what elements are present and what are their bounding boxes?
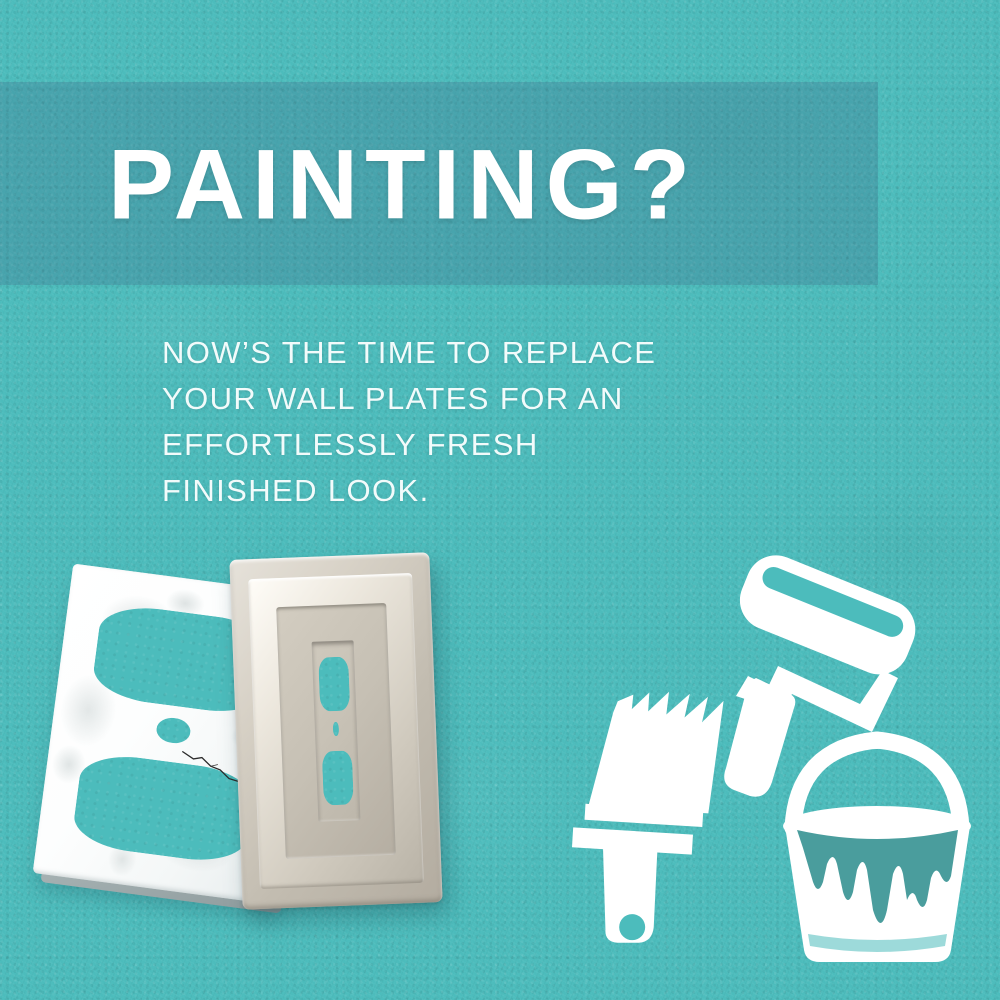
subhead-line-3: EFFORTLESSLY FRESH	[162, 422, 762, 468]
title-banner: PAINTING?	[0, 82, 878, 285]
promo-canvas: PAINTING? NOW’S THE TIME TO REPLACE YOUR…	[0, 0, 1000, 1000]
paint-bucket-icon	[775, 724, 980, 964]
outlet-screw-hole	[333, 722, 339, 737]
outlet-cutout-bottom	[322, 750, 354, 805]
nickel-plate-bevel-ring-2	[276, 603, 396, 859]
page-title: PAINTING?	[108, 134, 697, 233]
paint-tools-icon-group	[560, 556, 990, 966]
new-nickel-wall-plate	[229, 552, 442, 909]
outlet-cutout-top	[318, 657, 350, 712]
wall-plates-group	[0, 540, 560, 960]
subhead-text-block: NOW’S THE TIME TO REPLACE YOUR WALL PLAT…	[162, 330, 762, 514]
subhead-line-2: YOUR WALL PLATES FOR AN	[162, 376, 762, 422]
nickel-plate-bevel-ring-1	[248, 573, 424, 889]
subhead-line-1: NOW’S THE TIME TO REPLACE	[162, 330, 762, 376]
subhead-line-4: FINISHED LOOK.	[162, 468, 762, 514]
nickel-plate-outer-bevel	[229, 552, 442, 909]
nickel-plate-recessed-panel	[312, 640, 361, 821]
